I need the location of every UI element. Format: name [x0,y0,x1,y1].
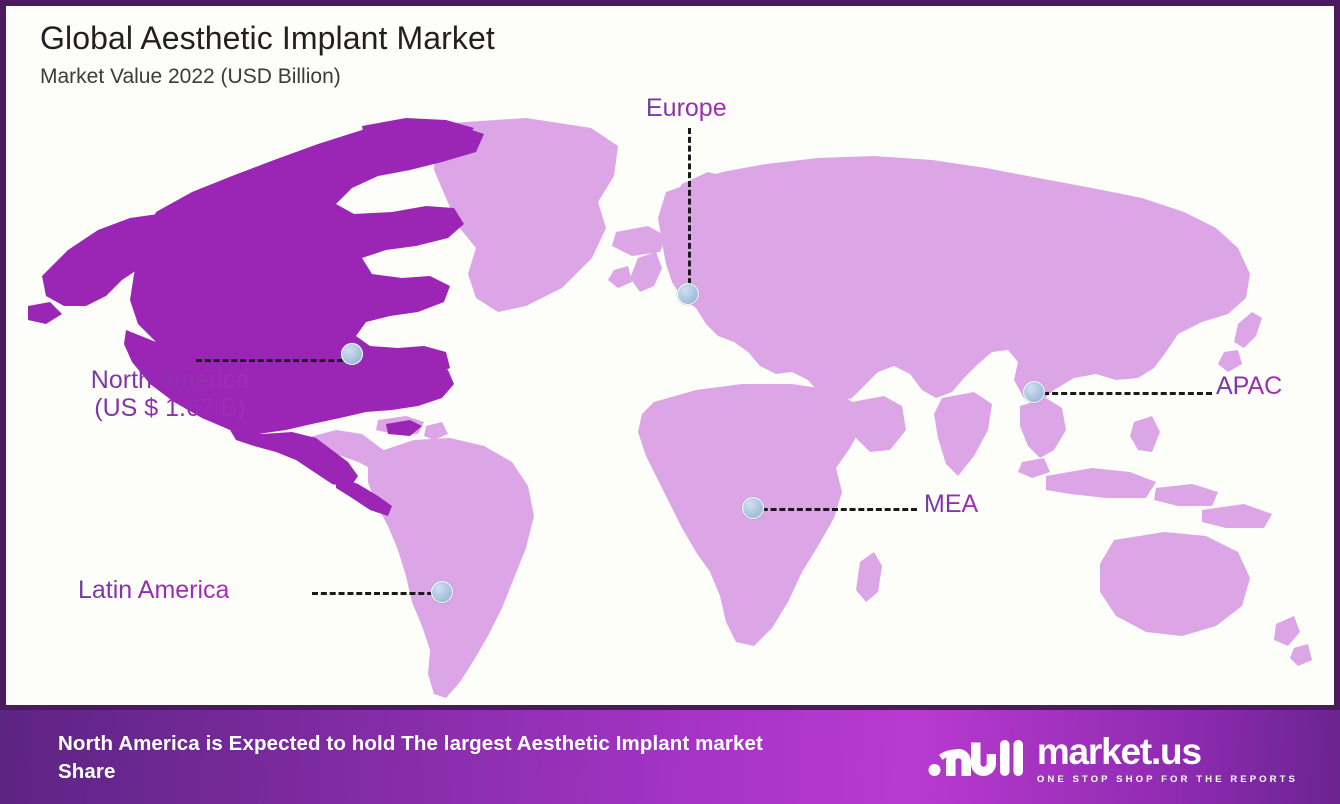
market-us-wordmark: market.us [1037,734,1298,770]
footer-caption: North America is Expected to hold The la… [58,730,818,785]
region-label-north-america: North America (US $ 1.67 B) [44,366,296,422]
map-marker-latin-america[interactable] [431,581,453,603]
footer-banner: North America is Expected to hold The la… [0,710,1340,804]
header: Global Aesthetic Implant Market Market V… [40,20,495,89]
market-us-tagline: ONE STOP SHOP FOR THE REPORTS [1037,774,1298,785]
region-label-mea-name: MEA [924,490,978,518]
page-title: Global Aesthetic Implant Market [40,20,495,57]
region-label-latin-america: Latin America [78,576,229,604]
page-subtitle: Market Value 2022 (USD Billion) [40,65,495,89]
leader-line-europe [688,128,691,293]
region-label-europe: Europe [646,94,727,122]
region-label-north-america-value: (US $ 1.67 B) [44,394,296,422]
region-label-apac-name: APAC [1216,372,1282,400]
leader-line-north-america [196,359,352,362]
infographic-root: North America (US $ 1.67 B) Europe APAC … [0,0,1340,804]
map-marker-apac[interactable] [1023,381,1045,403]
region-label-apac: APAC [1216,372,1282,400]
leader-line-latin-america [312,592,442,595]
market-us-logo-mark [927,736,1023,782]
region-label-north-america-name: North America [91,366,249,394]
region-label-latin-america-name: Latin America [78,576,229,604]
region-label-mea: MEA [924,490,978,518]
region-label-europe-name: Europe [646,94,727,122]
map-land-light [306,118,1312,698]
leader-line-apac [1034,392,1212,395]
map-marker-europe[interactable] [677,283,699,305]
map-marker-mea[interactable] [742,497,764,519]
market-us-logo-text: market.us ONE STOP SHOP FOR THE REPORTS [1037,734,1298,785]
leader-line-mea [753,508,917,511]
map-marker-north-america[interactable] [341,343,363,365]
map-canvas: North America (US $ 1.67 B) Europe APAC … [6,6,1334,705]
market-us-logo[interactable]: market.us ONE STOP SHOP FOR THE REPORTS [927,734,1298,785]
